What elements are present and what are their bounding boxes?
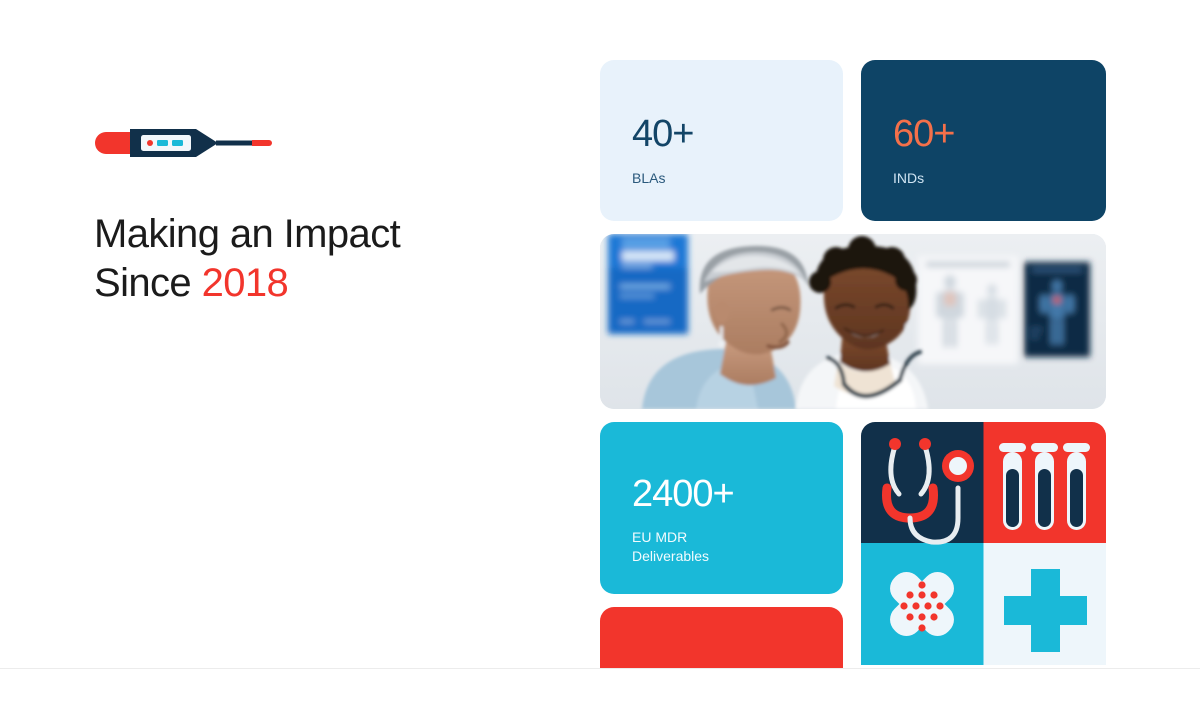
stat-number-eu-mdr: 2400+: [632, 474, 843, 514]
stat-number-inds: 60+: [893, 114, 1106, 154]
headline-line-2-prefix: Since: [94, 261, 202, 305]
stat-label-blas: BLAs: [632, 170, 843, 186]
hero-block: Making an ImpactSince 2018: [94, 120, 554, 308]
page-footer-space: [0, 669, 1200, 727]
stat-card-blas[interactable]: 40+ BLAs: [600, 60, 843, 221]
stat-card-eu-mdr[interactable]: 2400+ EU MDR Deliverables: [600, 422, 843, 594]
headline-line-1: Making an Impact: [94, 212, 400, 256]
stat-card-inds[interactable]: 60+ INDs: [861, 60, 1106, 221]
clinic-consultation-photo[interactable]: [600, 234, 1106, 409]
stat-label-inds: INDs: [893, 170, 1106, 186]
stats-grid: 40+ BLAs 60+ INDs: [600, 60, 1106, 680]
digital-thermometer-icon: [94, 120, 554, 166]
page-root: Making an ImpactSince 2018 40+ BLAs 60+ …: [0, 0, 1200, 727]
page-title: Making an ImpactSince 2018: [94, 210, 554, 308]
stat-number-blas: 40+: [632, 114, 843, 154]
headline-year: 2018: [202, 261, 289, 305]
test-tubes-icon: [999, 443, 1090, 530]
stat-label-eu-mdr: EU MDR Deliverables: [632, 528, 843, 566]
